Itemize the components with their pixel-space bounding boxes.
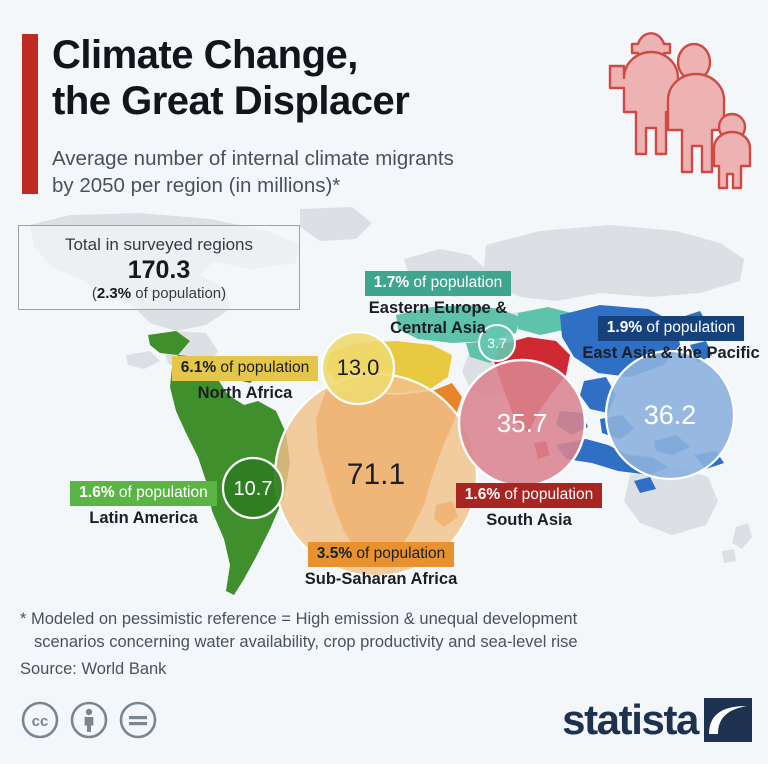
callout-eastern-europe-central-asia: 1.7% of population Eastern Europe & Cent… xyxy=(358,271,518,338)
family-icon xyxy=(594,22,754,194)
badge-suffix: of population xyxy=(352,545,445,562)
header: Climate Change, the Great Displacer Aver… xyxy=(0,0,768,210)
bubble-value-north-africa: 13.0 xyxy=(322,354,394,382)
status-badge-south-asia: 1.6% of population xyxy=(456,483,602,508)
svg-text:cc: cc xyxy=(32,713,49,730)
badge-percent: 6.1% xyxy=(181,359,216,376)
subtitle-line-2: by 2050 per region (in millions)* xyxy=(52,172,612,199)
badge-suffix: of population xyxy=(642,319,735,336)
total-value: 170.3 xyxy=(19,256,299,285)
region-label-line-1: East Asia & the Pacific xyxy=(578,344,764,363)
callout-north-africa: 6.1% of population North Africa xyxy=(162,356,328,404)
cc-by-person-icon[interactable] xyxy=(69,700,109,740)
bubble-value-text: 10.7 xyxy=(234,479,273,499)
region-label-line-1: North Africa xyxy=(162,384,328,403)
region-label-line-1: South Asia xyxy=(446,511,612,530)
total-percent-suffix: of population) xyxy=(131,285,226,302)
region-label-north-africa: North Africa xyxy=(162,384,328,403)
region-label-line-1: Eastern Europe & xyxy=(358,299,518,318)
title-accent-bar xyxy=(22,34,38,194)
bubble-value-east-asia-pacific: 36.2 xyxy=(625,397,715,433)
badge-percent: 1.6% xyxy=(465,486,500,503)
source-line: Source: World Bank xyxy=(20,659,166,680)
subtitle-line-1: Average number of internal climate migra… xyxy=(52,145,612,172)
region-label-line-2: Central Asia xyxy=(358,319,518,338)
bubble-value-sub-saharan-africa: 71.1 xyxy=(326,455,426,495)
region-label-line-1: Latin America xyxy=(62,509,225,528)
badge-suffix: of population xyxy=(115,484,208,501)
page-subtitle: Average number of internal climate migra… xyxy=(52,145,612,199)
bubble-value-text: 71.1 xyxy=(347,460,405,490)
bubble-value-text: 36.2 xyxy=(644,402,697,429)
callout-sub-saharan-africa: 3.5% of population Sub-Saharan Africa xyxy=(293,542,469,590)
bubble-value-latin-america: 10.7 xyxy=(220,476,286,502)
callout-east-asia-pacific: 1.9% of population East Asia & the Pacif… xyxy=(578,316,764,364)
badge-percent: 1.7% xyxy=(374,274,409,291)
status-badge-east-asia-pacific: 1.9% of population xyxy=(598,316,744,341)
status-badge-north-africa: 6.1% of population xyxy=(172,356,318,381)
region-label-south-asia: South Asia xyxy=(446,511,612,530)
badge-percent: 1.9% xyxy=(607,319,642,336)
total-summary-box: Total in surveyed regions 170.3 (2.3% of… xyxy=(18,225,300,310)
badge-suffix: of population xyxy=(216,359,309,376)
footnote-line-1: * Modeled on pessimistic reference = Hig… xyxy=(20,608,750,631)
region-label-eastern-europe-central-asia: Eastern Europe & Central Asia xyxy=(358,299,518,338)
badge-suffix: of population xyxy=(409,274,502,291)
total-percent-value: 2.3% xyxy=(97,285,131,302)
badge-percent: 1.6% xyxy=(79,484,114,501)
title-line-2: the Great Displacer xyxy=(52,78,612,124)
title-line-1: Climate Change, xyxy=(52,32,612,78)
cc-icon[interactable]: cc xyxy=(20,700,60,740)
callout-south-asia: 1.6% of population South Asia xyxy=(446,483,612,531)
region-label-line-1: Sub-Saharan Africa xyxy=(293,570,469,589)
badge-suffix: of population xyxy=(500,486,593,503)
total-label: Total in surveyed regions xyxy=(19,234,299,255)
status-badge-eastern-europe-central-asia: 1.7% of population xyxy=(365,271,511,296)
footnote-line-2: scenarios concerning water availability,… xyxy=(20,631,750,654)
status-badge-latin-america: 1.6% of population xyxy=(70,481,216,506)
statista-logo-text: statista xyxy=(562,699,698,741)
status-badge-sub-saharan-africa: 3.5% of population xyxy=(308,542,454,567)
region-label-sub-saharan-africa: Sub-Saharan Africa xyxy=(293,570,469,589)
page-title: Climate Change, the Great Displacer xyxy=(52,32,612,124)
region-label-east-asia-pacific: East Asia & the Pacific xyxy=(578,344,764,363)
bubble-value-text: 35.7 xyxy=(497,410,548,436)
region-label-latin-america: Latin America xyxy=(62,509,225,528)
cc-nd-equals-icon[interactable] xyxy=(118,700,158,740)
callout-latin-america: 1.6% of population Latin America xyxy=(62,481,225,529)
footnote: * Modeled on pessimistic reference = Hig… xyxy=(20,608,750,655)
bubble-value-south-asia: 35.7 xyxy=(479,406,565,440)
statista-logo-mark xyxy=(704,698,752,742)
badge-percent: 3.5% xyxy=(317,545,352,562)
total-percent: (2.3% of population) xyxy=(19,285,299,303)
infographic-page: Climate Change, the Great Displacer Aver… xyxy=(0,0,768,764)
bubble-value-text: 13.0 xyxy=(337,357,380,379)
statista-logo[interactable]: statista xyxy=(562,698,752,742)
creative-commons-icons: cc xyxy=(20,700,158,740)
